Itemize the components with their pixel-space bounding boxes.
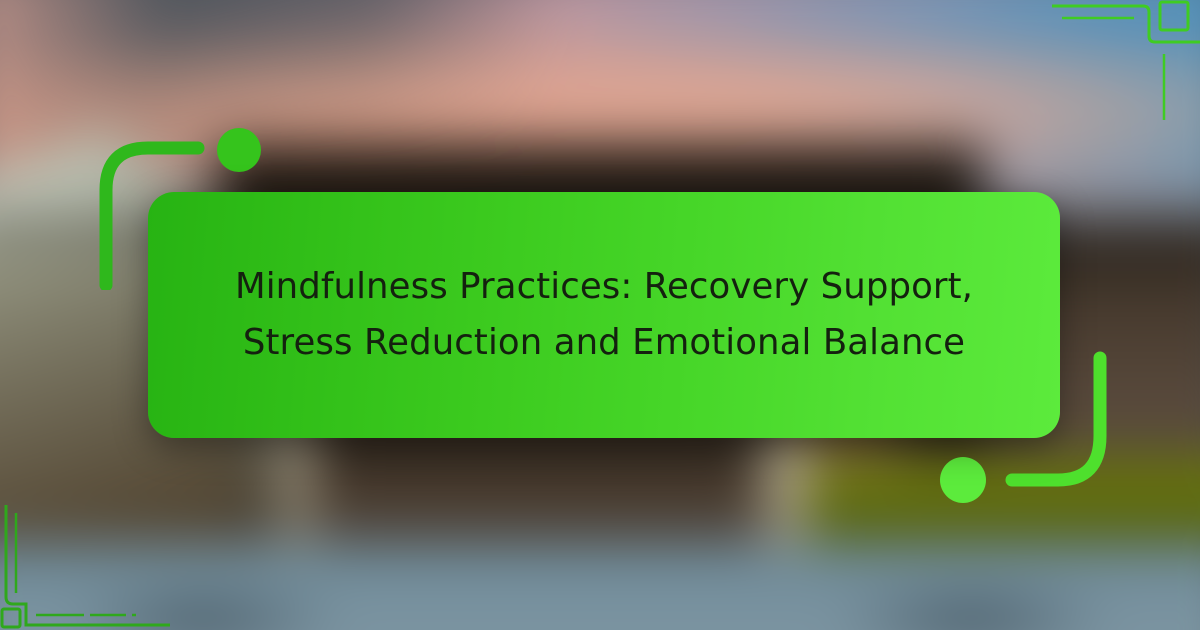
page-title: Mindfulness Practices: Recovery Support,… xyxy=(235,259,973,371)
title-card: Mindfulness Practices: Recovery Support,… xyxy=(148,192,1060,438)
circuit-node-square-bl xyxy=(2,609,20,627)
page-title-line-2: Stress Reduction and Emotional Balance xyxy=(243,322,965,363)
circuit-decoration-top-right xyxy=(1040,0,1200,120)
page-title-line-1: Mindfulness Practices: Recovery Support, xyxy=(235,266,973,307)
circuit-trace-outer-bl xyxy=(6,505,170,625)
circuit-node-square-tr xyxy=(1160,2,1188,30)
accent-dot-bottom-right xyxy=(940,457,986,503)
circuit-decoration-bottom-left xyxy=(0,505,170,630)
circuit-trace-outer-tr xyxy=(1052,6,1200,42)
water-reflection-right xyxy=(805,585,1138,630)
accent-dot-top-left xyxy=(217,128,261,172)
